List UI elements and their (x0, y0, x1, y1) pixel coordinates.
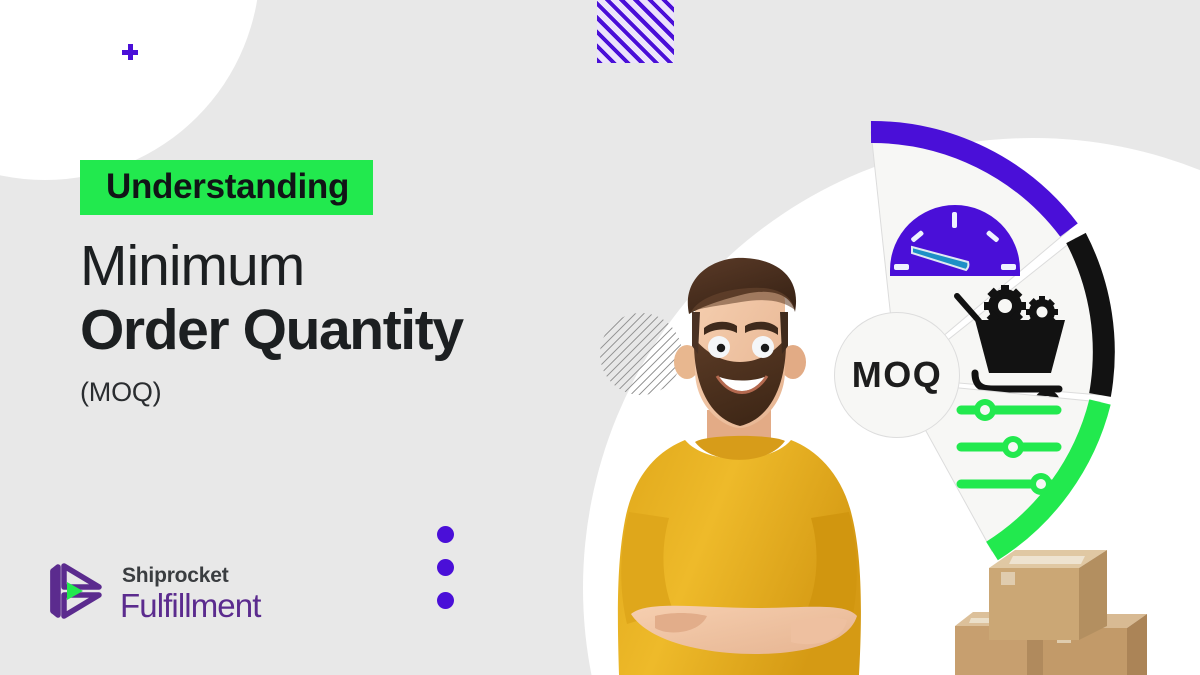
banner-canvas: Understanding Minimum Order Quantity (MO… (0, 0, 1200, 675)
plus-icon (122, 44, 138, 60)
dot-1 (437, 526, 454, 543)
play-triangle-logo-icon (42, 558, 108, 629)
diagonal-stripe-square-icon (597, 0, 674, 63)
character-head (674, 258, 806, 428)
title-line-2: Order Quantity (80, 301, 600, 361)
logo-name-bottom: Fulfillment (120, 589, 260, 622)
logo-name-top: Shiprocket (122, 565, 260, 586)
title-line-1: Minimum (80, 237, 600, 297)
headline-block: Understanding Minimum Order Quantity (MO… (80, 160, 600, 408)
eyebrow-badge: Understanding (80, 160, 373, 215)
box-top (989, 550, 1107, 640)
logo-wordmark: Shiprocket Fulfillment (120, 565, 260, 622)
three-dots-decoration (437, 526, 454, 625)
character-illustration (595, 250, 915, 675)
dot-2 (437, 559, 454, 576)
title-subtitle: (MOQ) (80, 377, 600, 408)
brand-logo: Shiprocket Fulfillment (42, 558, 260, 629)
dot-3 (437, 592, 454, 609)
background-circle-topleft (0, 0, 260, 180)
settings-sliders-icon (961, 399, 1057, 495)
stacked-boxes-illustration (955, 548, 1200, 675)
